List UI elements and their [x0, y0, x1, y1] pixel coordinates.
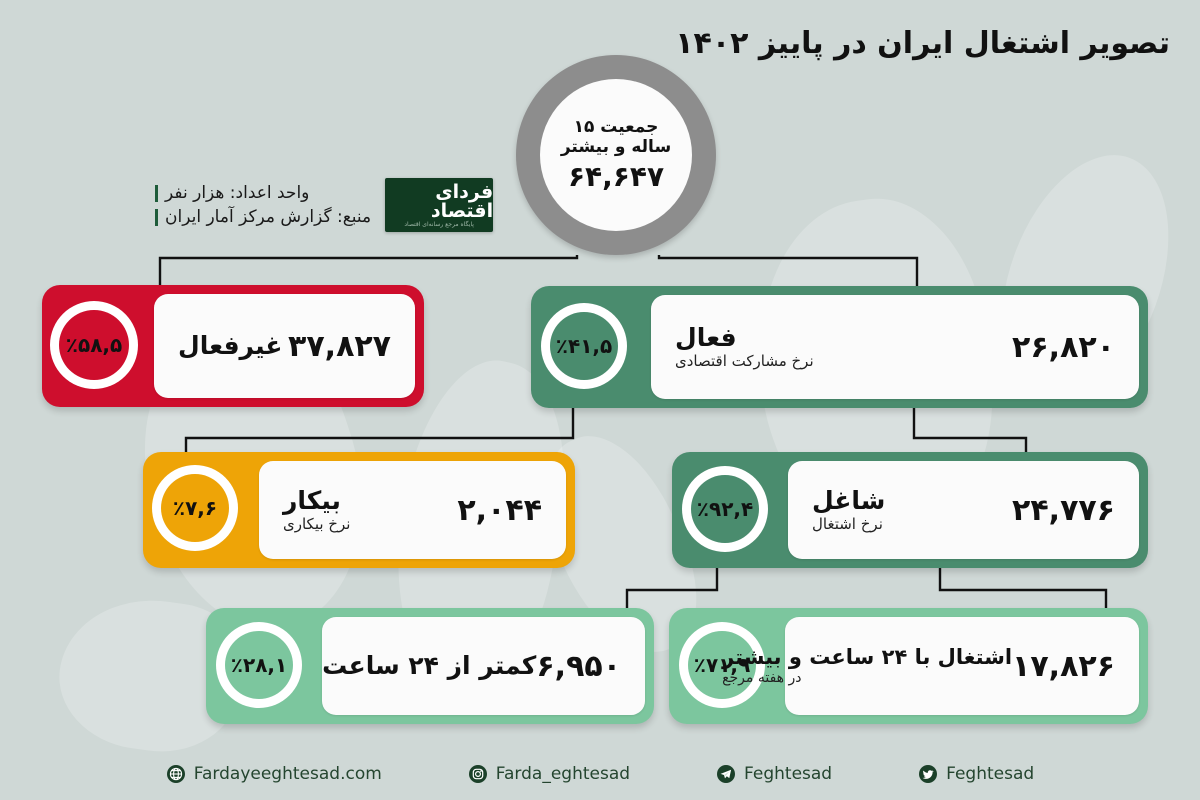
brand-logo-tagline: پایگاه مرجع رسانه‌ای اقتصاد: [404, 222, 474, 228]
footer-link-instagram[interactable]: Farda_eghtesad: [468, 764, 630, 784]
node-employed-titleblock: شاغل نرخ اشتغال: [812, 487, 885, 534]
node-employed-badge: ٪۹۲,۴: [682, 466, 768, 552]
node-employed: ٪۹۲,۴ ۲۴,۷۷۶ شاغل نرخ اشتغال: [672, 452, 1148, 568]
node-unemployed-value: ۲,۰۴۴: [457, 493, 542, 528]
node-inactive-badge: ٪۵۸,۵: [50, 301, 138, 389]
node-over-24-hours-value: ۱۷,۸۲۶: [1012, 649, 1115, 684]
node-inactive: ٪۵۸,۵ ۳۷,۸۲۷ غیرفعال: [42, 285, 424, 407]
footer-link-instagram-label: Farda_eghtesad: [496, 764, 630, 784]
globe-icon: [166, 764, 186, 784]
node-unemployed-pill: ۲,۰۴۴ بیکار نرخ بیکاری: [259, 461, 566, 559]
unit-note-text: واحد اعداد: هزار نفر: [165, 183, 309, 203]
node-over-24-hours-pill: ۱۷,۸۲۶ اشتغال با ۲۴ ساعت و بیشتر در هفته…: [785, 617, 1139, 715]
node-under-24-hours-value: ۶,۹۵۰: [536, 649, 621, 684]
footer-link-twitter[interactable]: Feghtesad: [918, 764, 1034, 784]
node-under-24-hours-badge: ٪۲۸,۱: [216, 622, 302, 708]
root-node-label: جمعیت ۱۵ ساله و بیشتر: [556, 117, 676, 157]
node-unemployed: ٪۷,۶ ۲,۰۴۴ بیکار نرخ بیکاری: [143, 452, 575, 568]
meta-block: فردای اقتصاد پایگاه مرجع رسانه‌ای اقتصاد…: [155, 178, 493, 232]
node-employed-label: شاغل: [812, 487, 885, 516]
source-note-text: منبع: گزارش مرکز آمار ایران: [165, 207, 371, 227]
node-active-badge: ٪۴۱,۵: [541, 303, 627, 389]
telegram-icon: [716, 764, 736, 784]
node-under-24-hours-label: کمتر از ۲۴ ساعت: [322, 652, 536, 681]
node-under-24-hours-titleblock: کمتر از ۲۴ ساعت: [322, 652, 536, 681]
node-unemployed-percent: ٪۷,۶: [161, 474, 229, 542]
brand-logo-text: فردای اقتصاد: [385, 183, 493, 221]
root-node-value: ۶۴,۶۴۷: [568, 160, 664, 193]
node-unemployed-titleblock: بیکار نرخ بیکاری: [283, 487, 350, 534]
footer-link-telegram[interactable]: Feghtesad: [716, 764, 832, 784]
node-inactive-percent: ٪۵۸,۵: [59, 310, 129, 380]
source-note: منبع: گزارش مرکز آمار ایران: [155, 207, 371, 227]
node-active: ٪۴۱,۵ ۲۶,۸۲۰ فعال نرخ مشارکت اقتصادی: [531, 286, 1148, 408]
meta-lines: واحد اعداد: هزار نفر منبع: گزارش مرکز آم…: [155, 183, 371, 227]
node-employed-value: ۲۴,۷۷۶: [1012, 493, 1115, 528]
node-over-24-hours: ٪۷۱,۹ ۱۷,۸۲۶ اشتغال با ۲۴ ساعت و بیشتر د…: [669, 608, 1148, 724]
footer-link-twitter-label: Feghtesad: [946, 764, 1034, 784]
node-active-titleblock: فعال نرخ مشارکت اقتصادی: [675, 324, 814, 371]
node-under-24-hours-percent: ٪۲۸,۱: [225, 631, 293, 699]
instagram-icon: [468, 764, 488, 784]
node-active-value: ۲۶,۸۲۰: [1012, 330, 1115, 365]
node-unemployed-label: بیکار: [283, 487, 341, 516]
node-unemployed-sublabel: نرخ بیکاری: [283, 516, 350, 533]
node-inactive-label: غیرفعال: [178, 332, 282, 361]
node-active-pill: ۲۶,۸۲۰ فعال نرخ مشارکت اقتصادی: [651, 295, 1139, 399]
unit-note: واحد اعداد: هزار نفر: [155, 183, 309, 203]
node-employed-percent: ٪۹۲,۴: [691, 475, 759, 543]
node-under-24-hours: ٪۲۸,۱ ۶,۹۵۰ کمتر از ۲۴ ساعت: [206, 608, 654, 724]
node-over-24-hours-titleblock: اشتغال با ۲۴ ساعت و بیشتر در هفته مرجع: [722, 646, 1012, 686]
node-active-sublabel: نرخ مشارکت اقتصادی: [675, 353, 814, 370]
node-employed-sublabel: نرخ اشتغال: [812, 516, 883, 533]
root-node-inner: جمعیت ۱۵ ساله و بیشتر ۶۴,۶۴۷: [540, 79, 692, 231]
node-active-percent: ٪۴۱,۵: [550, 312, 618, 380]
node-inactive-value: ۳۷,۸۲۷: [288, 329, 391, 364]
node-under-24-hours-pill: ۶,۹۵۰ کمتر از ۲۴ ساعت: [322, 617, 645, 715]
footer-social-row: Fardayeeghtesad.com Farda_eghtesad Feght…: [0, 764, 1200, 784]
accent-bar-icon: [155, 185, 158, 202]
accent-bar-icon: [155, 209, 158, 226]
infographic-canvas: تصویر اشتغال ایران در پاییز ۱۴۰۲ فردای ا…: [0, 0, 1200, 800]
footer-link-telegram-label: Feghtesad: [744, 764, 832, 784]
node-active-label: فعال: [675, 324, 737, 353]
footer-link-website[interactable]: Fardayeeghtesad.com: [166, 764, 382, 784]
brand-logo: فردای اقتصاد پایگاه مرجع رسانه‌ای اقتصاد: [385, 178, 493, 232]
footer-link-website-label: Fardayeeghtesad.com: [194, 764, 382, 784]
page-title: تصویر اشتغال ایران در پاییز ۱۴۰۲: [675, 26, 1170, 61]
node-over-24-hours-sublabel: در هفته مرجع: [722, 670, 801, 686]
twitter-icon: [918, 764, 938, 784]
node-inactive-pill: ۳۷,۸۲۷ غیرفعال: [154, 294, 415, 398]
node-over-24-hours-label: اشتغال با ۲۴ ساعت و بیشتر: [722, 646, 1012, 669]
node-employed-pill: ۲۴,۷۷۶ شاغل نرخ اشتغال: [788, 461, 1139, 559]
node-unemployed-badge: ٪۷,۶: [152, 465, 238, 551]
root-node-population: جمعیت ۱۵ ساله و بیشتر ۶۴,۶۴۷: [516, 55, 716, 255]
node-inactive-titleblock: غیرفعال: [178, 332, 282, 361]
